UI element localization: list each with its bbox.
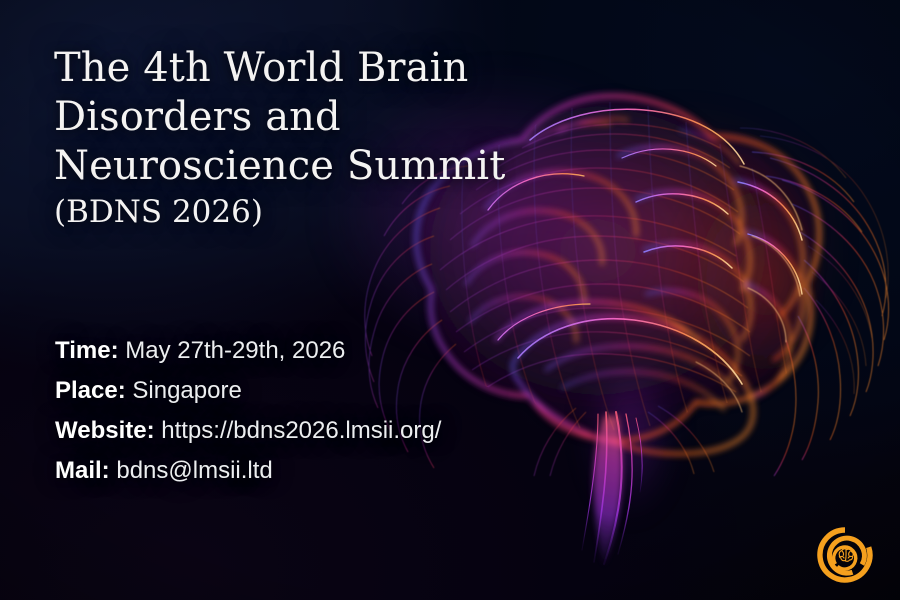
page-title: The 4th World Brain Disorders and Neuros… <box>54 44 574 233</box>
detail-value-mail[interactable]: bdns@lmsii.ltd <box>116 457 272 484</box>
text-layer: The 4th World Brain Disorders and Neuros… <box>0 0 900 600</box>
detail-value-website[interactable]: https://bdns2026.lmsii.org/ <box>161 417 441 444</box>
event-details: Time: May 27th-29th, 2026 Place: Singapo… <box>55 331 575 491</box>
detail-label-mail: Mail: <box>55 457 110 484</box>
detail-row-place: Place: Singapore <box>55 371 575 411</box>
detail-label-website: Website: <box>55 417 155 444</box>
title-line-3: Neuroscience Summit <box>54 142 574 191</box>
title-acronym: (BDNS 2026) <box>54 191 574 233</box>
detail-label-time: Time: <box>55 337 119 364</box>
conference-poster: The 4th World Brain Disorders and Neuros… <box>0 0 900 600</box>
detail-row-mail: Mail: bdns@lmsii.ltd <box>55 451 575 491</box>
detail-row-time: Time: May 27th-29th, 2026 <box>55 331 575 371</box>
title-line-1: The 4th World Brain <box>54 44 574 93</box>
title-line-2: Disorders and <box>54 93 574 142</box>
detail-label-place: Place: <box>55 377 126 404</box>
detail-row-website: Website: https://bdns2026.lmsii.org/ <box>55 411 575 451</box>
bdns-brain-logo[interactable] <box>816 526 874 584</box>
detail-value-time: May 27th-29th, 2026 <box>125 337 345 364</box>
detail-value-place: Singapore <box>132 377 241 404</box>
